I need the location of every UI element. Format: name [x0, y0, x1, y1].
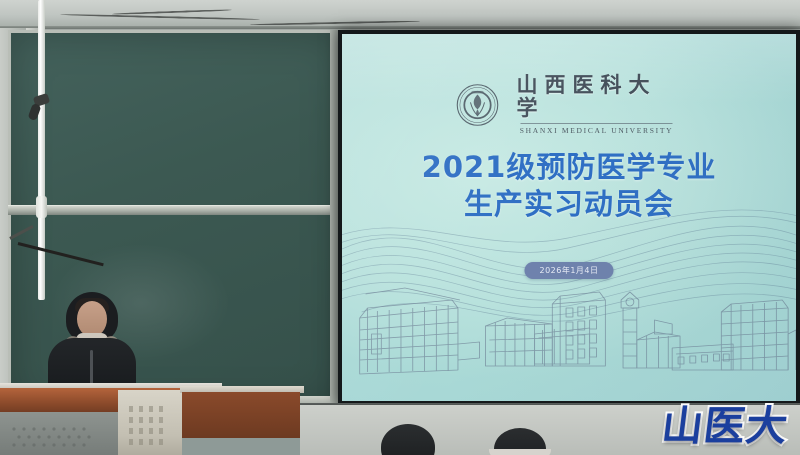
channel-watermark: 山医大: [659, 406, 790, 447]
brand-text-block: 山西医科大学 SHANXI MEDICAL UNIVERSITY: [511, 74, 683, 135]
projection-screen-frame: 山西医科大学 SHANXI MEDICAL UNIVERSITY 2021级预防…: [338, 30, 800, 405]
lectern-speaker-grill-icon: [8, 424, 104, 452]
campus-buildings-line-art-icon: [342, 278, 796, 383]
slide-title: 2021级预防医学专业 生产实习动员会: [342, 149, 796, 223]
pole-joint: [36, 196, 47, 218]
university-seal-icon: [456, 83, 500, 127]
slide-title-line-2: 生产实习动员会: [342, 186, 796, 223]
university-name-en: SHANXI MEDICAL UNIVERSITY: [520, 126, 673, 135]
ceiling-seam: [0, 26, 800, 29]
side-desk-panel: [182, 392, 300, 438]
chalkboard-divider-rail: [8, 205, 338, 215]
university-brand-lockup: 山西医科大学 SHANXI MEDICAL UNIVERSITY: [456, 74, 683, 135]
projection-screen: 山西医科大学 SHANXI MEDICAL UNIVERSITY 2021级预防…: [342, 34, 796, 401]
presenter-face: [77, 301, 107, 337]
speaker-vent-holes-icon: [126, 404, 174, 450]
classroom-photo-scene: 山西医科大学 SHANXI MEDICAL UNIVERSITY 2021级预防…: [0, 0, 800, 455]
brand-divider: [521, 123, 673, 124]
presentation-slide: 山西医科大学 SHANXI MEDICAL UNIVERSITY 2021级预防…: [342, 34, 796, 401]
audience-cap-brim: [489, 449, 551, 455]
microphone-stand-pole: [38, 0, 45, 300]
slide-date-badge: 2026年1月4日: [524, 262, 613, 279]
slide-title-line-1: 2021级预防医学专业: [342, 149, 796, 186]
university-name-cn: 山西医科大学: [511, 74, 683, 120]
